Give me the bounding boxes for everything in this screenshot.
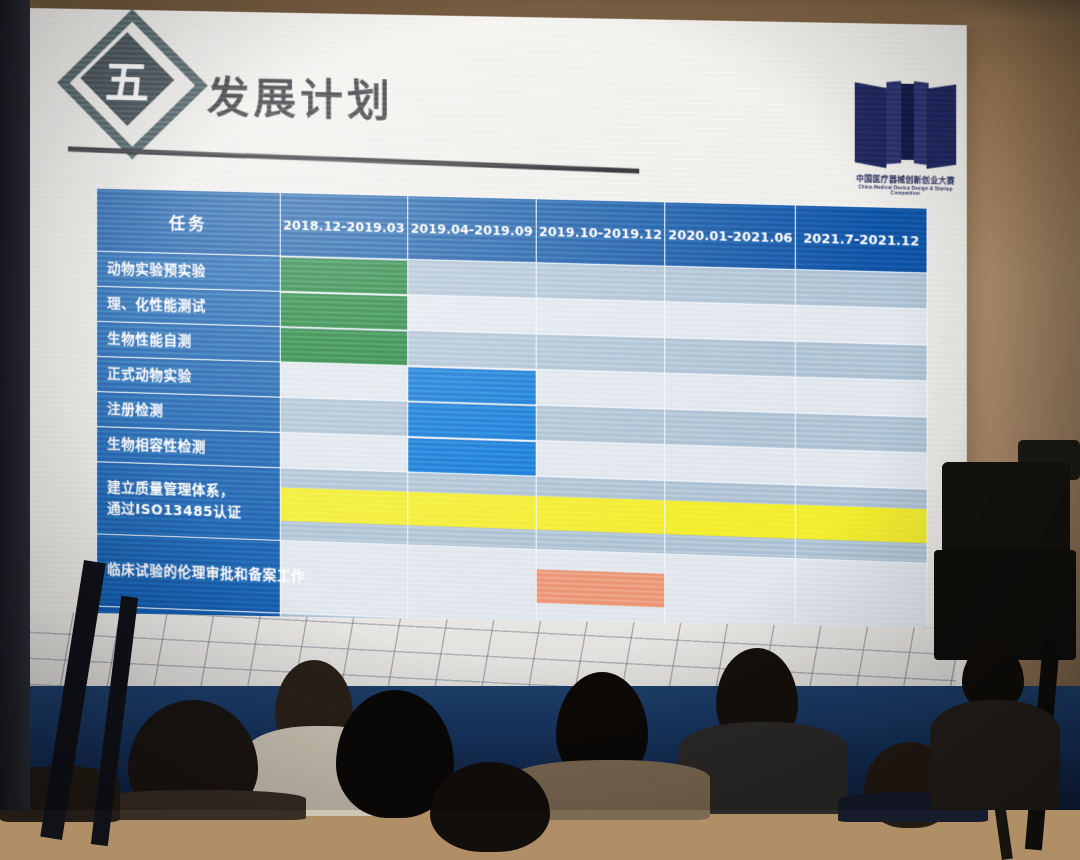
gantt-bar-yellow: [666, 500, 795, 538]
row-label-6: 建立质量管理体系， 通过ISO13485认证: [97, 462, 281, 541]
empty-cell: [796, 377, 927, 417]
gantt-bar-yellow: [281, 488, 407, 526]
column-header-task: 任务: [97, 188, 281, 256]
bar-cell-yellow-5: [796, 485, 927, 563]
empty-cell: [408, 545, 536, 623]
bar-cell-yellow-4: [665, 481, 795, 559]
title-divider: [68, 147, 639, 174]
gantt-bar-yellow: [796, 505, 926, 543]
row-label-4: 注册检测: [97, 392, 281, 433]
conference-room-background: 五 发展计划 中国医疗器械创新创业大赛 China Medical Device…: [0, 0, 1080, 810]
empty-cell: [536, 298, 665, 337]
gantt-bar-salmon: [536, 569, 664, 607]
empty-cell: [665, 445, 795, 485]
empty-cell: [665, 302, 795, 341]
bar-cell-green-2: [280, 327, 407, 366]
empty-cell: [665, 409, 795, 449]
row-label-6-line2: 通过ISO13485认证: [107, 498, 280, 525]
column-header-period-2: 2019.04-2019.09: [408, 196, 536, 263]
logo-name-en: China Medical Device Design & Startup Co…: [846, 184, 964, 197]
audience-body: [930, 700, 1060, 810]
empty-cell: [665, 266, 795, 305]
bar-cell-yellow-1: [280, 468, 407, 545]
gantt-bar-blue: [408, 438, 535, 476]
column-header-period-1: 2018.12-2019.03: [280, 193, 407, 260]
empty-cell: [536, 263, 665, 302]
bar-cell-blue-4: [408, 401, 536, 441]
empty-cell: [280, 362, 407, 401]
bar-cell-green-0: [280, 256, 407, 295]
bar-cell-salmon: [536, 549, 665, 627]
page-title: 发展计划: [207, 64, 394, 129]
camera-body: [942, 462, 1070, 558]
bar-cell-blue-5: [408, 437, 536, 477]
audience-body: [96, 790, 306, 820]
empty-cell: [536, 441, 665, 481]
column-header-period-4: 2020.01-2021.06: [665, 202, 795, 270]
gantt-bar-blue: [408, 402, 535, 439]
empty-cell: [665, 554, 795, 632]
row-label-3: 正式动物实验: [97, 357, 281, 398]
row-label-2: 生物性能自测: [97, 321, 281, 362]
open-book-icon: [855, 81, 956, 172]
gantt-bar-green: [281, 257, 407, 294]
row-label-1: 理、化性能测试: [97, 286, 281, 326]
gantt-bar-yellow: [408, 492, 535, 530]
foreground-left-edge: [0, 0, 30, 810]
bar-cell-green-1: [280, 291, 407, 330]
empty-cell: [796, 413, 927, 453]
empty-cell: [796, 270, 927, 309]
gantt-bar-green: [281, 328, 407, 365]
empty-cell: [280, 433, 407, 472]
column-header-period-3: 2019.10-2019.12: [536, 199, 665, 266]
empty-cell: [536, 405, 665, 445]
row-label-5: 生物相容性检测: [97, 427, 281, 468]
bar-cell-blue-3: [408, 366, 536, 405]
gantt-bar-green: [281, 292, 407, 329]
gantt-bar-yellow: [536, 496, 664, 534]
empty-cell: [796, 449, 927, 489]
empty-cell: [536, 370, 665, 410]
row-label-0: 动物实验预实验: [97, 251, 281, 291]
column-header-period-5: 2021.7-2021.12: [796, 205, 927, 273]
empty-cell: [796, 305, 927, 345]
empty-cell: [665, 373, 795, 413]
chapter-number: 五: [70, 21, 185, 138]
chapter-badge-icon: 五: [70, 21, 197, 150]
empty-cell: [408, 330, 536, 369]
empty-cell: [796, 341, 927, 381]
empty-cell: [408, 295, 536, 334]
empty-cell: [280, 397, 407, 436]
bar-cell-yellow-2: [408, 472, 536, 549]
gantt-bar-blue: [408, 367, 535, 404]
bar-cell-yellow-3: [536, 476, 665, 554]
empty-cell: [536, 334, 665, 373]
empty-cell: [408, 259, 536, 298]
competition-logo: 中国医疗器械创新创业大赛 China Medical Device Design…: [846, 81, 964, 207]
empty-cell: [665, 338, 795, 378]
